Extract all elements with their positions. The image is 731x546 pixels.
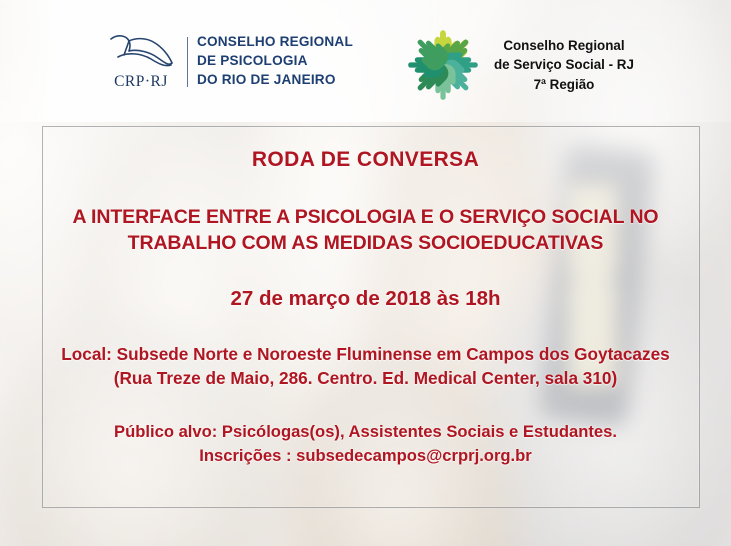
event-headline-line-1: A INTERFACE ENTRE A PSICOLOGIA E O SERVI…	[0, 204, 731, 230]
event-location: Local: Subsede Norte e Noroeste Fluminen…	[0, 342, 731, 390]
crp-wordmark: CRP·RJ	[114, 73, 168, 91]
event-headline: A INTERFACE ENTRE A PSICOLOGIA E O SERVI…	[0, 204, 731, 256]
event-audience: Público alvo: Psicólogas(os), Assistente…	[0, 420, 731, 468]
event-poster: CRP·RJ CONSELHO REGIONAL DE PSICOLOGIA D…	[0, 0, 731, 546]
crp-mark: CRP·RJ	[104, 32, 178, 91]
event-location-line-2: (Rua Treze de Maio, 286. Centro. Ed. Med…	[0, 366, 731, 390]
event-location-line-1: Local: Subsede Norte e Noroeste Fluminen…	[0, 342, 731, 366]
cress-logo-line-2: de Serviço Social - RJ	[494, 55, 634, 74]
event-date: 27 de março de 2018 às 18h	[0, 287, 731, 311]
circle-of-hands-icon	[406, 28, 480, 102]
event-kicker: RODA DE CONVERSA	[0, 148, 731, 172]
crp-rj-logo: CRP·RJ CONSELHO REGIONAL DE PSICOLOGIA D…	[104, 32, 353, 91]
crp-logo-text: CONSELHO REGIONAL DE PSICOLOGIA DO RIO D…	[197, 33, 353, 89]
cress-logo-text: Conselho Regional de Serviço Social - RJ…	[494, 36, 634, 93]
cress-logo-line-1: Conselho Regional	[494, 36, 634, 55]
event-registration-line: Inscrições : subsedecampos@crprj.org.br	[0, 444, 731, 468]
cress-logo-line-3: 7ª Região	[494, 75, 634, 94]
poster-content: RODA DE CONVERSA A INTERFACE ENTRE A PSI…	[0, 126, 731, 468]
crp-logo-line-2: DE PSICOLOGIA	[197, 52, 353, 71]
event-headline-line-2: TRABALHO COM AS MEDIDAS SOCIOEDUCATIVAS	[0, 230, 731, 256]
crp-logo-line-3: DO RIO DE JANEIRO	[197, 71, 353, 90]
event-audience-line: Público alvo: Psicólogas(os), Assistente…	[0, 420, 731, 444]
crp-divider	[187, 37, 188, 87]
cress-rj-logo: Conselho Regional de Serviço Social - RJ…	[406, 28, 634, 102]
crp-logo-line-1: CONSELHO REGIONAL	[197, 33, 353, 52]
crp-bird-wing-icon	[105, 32, 177, 72]
